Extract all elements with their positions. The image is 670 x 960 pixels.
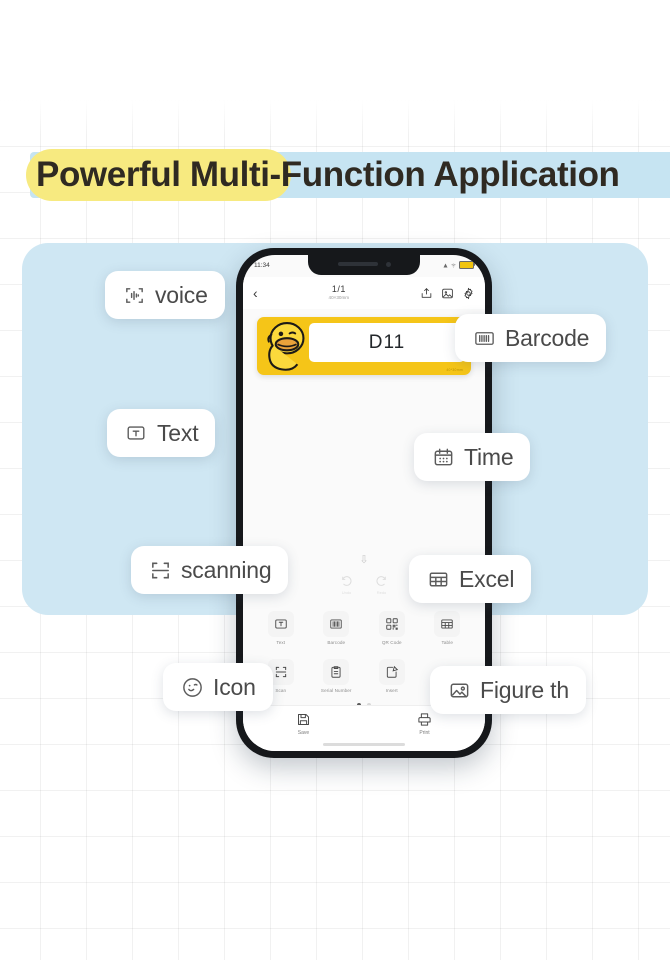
callout-label: voice <box>155 282 208 309</box>
page-counter: 1/1 <box>258 285 420 294</box>
label-text-value: D11 <box>369 332 405 354</box>
clipboard-list-icon <box>323 659 349 685</box>
callout-label: Excel <box>459 566 514 593</box>
printer-icon <box>417 712 432 727</box>
callout-excel[interactable]: Excel <box>409 555 531 603</box>
save-label: Save <box>298 730 309 736</box>
app-nav-bar: ‹ 1/1 40×30mm <box>243 277 485 309</box>
table-icon <box>434 611 460 637</box>
home-indicator <box>323 743 405 746</box>
scan-frame-icon <box>148 558 172 582</box>
wifi-icon <box>451 263 456 268</box>
phone-notch <box>308 255 420 275</box>
picture-icon <box>447 678 471 702</box>
tool-text[interactable]: Text <box>253 611 309 652</box>
callout-label: Figure th <box>480 677 569 704</box>
callout-icon[interactable]: Icon <box>163 663 273 711</box>
label-preview-card[interactable]: D11 40*30mm <box>257 317 471 375</box>
qrcode-icon <box>379 611 405 637</box>
barcode-icon <box>472 326 496 350</box>
callout-label: scanning <box>181 557 271 584</box>
tool-label: Barcode <box>327 640 345 645</box>
calendar-icon <box>431 445 455 469</box>
text-box-icon <box>124 421 148 445</box>
tool-serial-number[interactable]: Serial Number <box>309 659 365 700</box>
tool-qrcode[interactable]: QR Code <box>364 611 420 652</box>
voice-waveform-icon <box>122 283 146 307</box>
undo-button[interactable]: Undo <box>340 575 353 601</box>
redo-label: Redo <box>377 590 387 595</box>
tool-label: Insert <box>386 688 398 693</box>
redo-icon <box>375 575 388 588</box>
tool-label: Text <box>276 640 285 645</box>
smiley-face-icon <box>180 675 204 699</box>
callout-voice[interactable]: voice <box>105 271 225 319</box>
notch-camera <box>386 262 391 267</box>
nav-title-group: 1/1 40×30mm <box>258 285 420 300</box>
image-icon[interactable] <box>441 287 454 300</box>
undo-label: Undo <box>342 590 352 595</box>
save-button[interactable]: Save <box>296 712 311 736</box>
undo-icon <box>340 575 353 588</box>
callout-scanning[interactable]: scanning <box>131 546 288 594</box>
tool-label: QR Code <box>382 640 402 645</box>
tool-table[interactable]: Table <box>420 611 476 652</box>
floppy-disk-icon <box>296 712 311 727</box>
tool-insert[interactable]: Insert <box>364 659 420 700</box>
insert-icon <box>379 659 405 685</box>
page-title: Powerful Multi-Function Application <box>36 149 670 201</box>
callout-label: Time <box>464 444 513 471</box>
gear-icon[interactable] <box>462 287 475 300</box>
callout-label: Icon <box>213 674 256 701</box>
share-icon[interactable] <box>420 287 433 300</box>
tool-label: Serial Number <box>321 688 352 693</box>
background-fade <box>0 100 670 136</box>
nav-icon-group <box>420 287 475 300</box>
callout-label: Barcode <box>505 325 589 352</box>
battery-icon <box>459 261 474 269</box>
headline: Powerful Multi-Function Application <box>0 149 670 203</box>
label-text-area: D11 <box>309 323 465 362</box>
tool-label: Scan <box>275 688 286 693</box>
print-label: Print <box>419 730 429 736</box>
status-time: 11:34 <box>254 262 270 269</box>
redo-button[interactable]: Redo <box>375 575 388 601</box>
chevron-double-down-icon[interactable]: ⇩ <box>359 555 368 566</box>
callout-figure[interactable]: Figure th <box>430 666 586 714</box>
tool-barcode[interactable]: Barcode <box>309 611 365 652</box>
callout-text[interactable]: Text <box>107 409 215 457</box>
signal-icon <box>443 263 448 268</box>
table-grid-icon <box>426 567 450 591</box>
label-micro-text: 40*30mm <box>446 368 463 372</box>
text-box-icon <box>268 611 294 637</box>
label-size: 40×30mm <box>258 296 420 301</box>
notch-speaker <box>338 262 378 266</box>
print-button[interactable]: Print <box>417 712 432 736</box>
callout-barcode[interactable]: Barcode <box>455 314 606 362</box>
duck-illustration <box>261 319 313 373</box>
callout-label: Text <box>157 420 198 447</box>
callout-time[interactable]: Time <box>414 433 530 481</box>
tool-label: Table <box>442 640 453 645</box>
barcode-icon <box>323 611 349 637</box>
